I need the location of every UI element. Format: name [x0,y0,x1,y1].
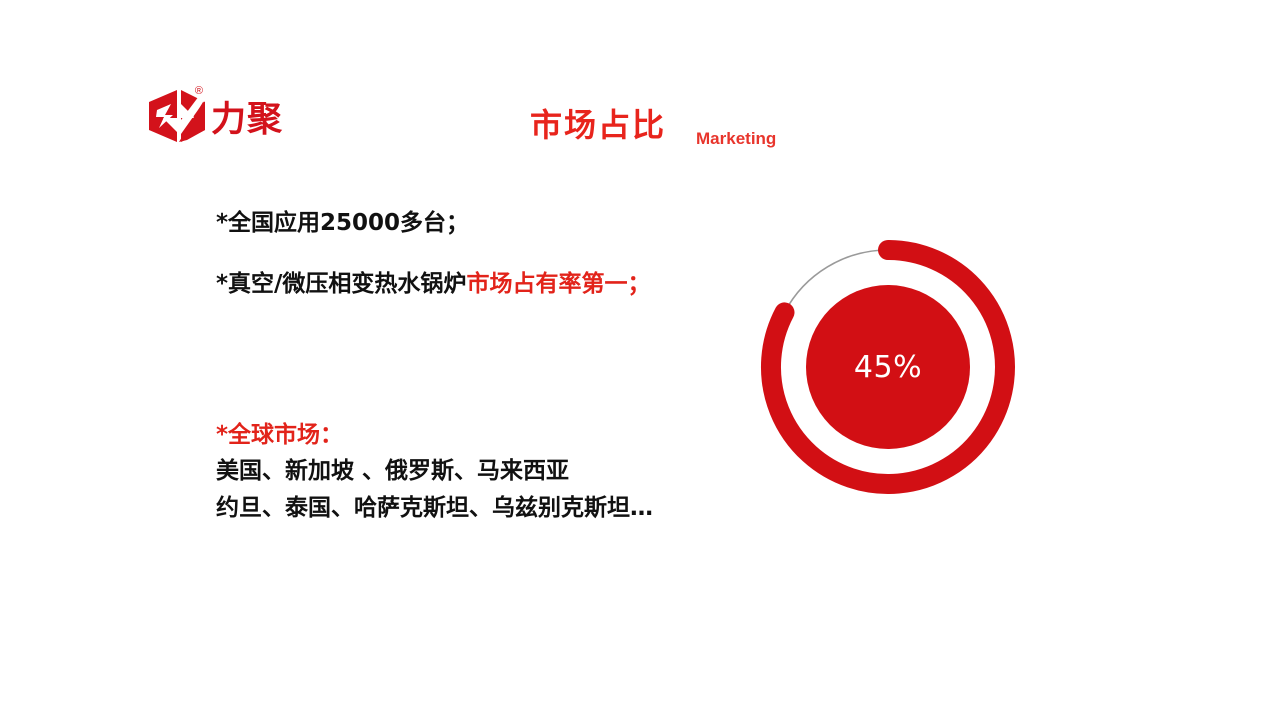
global-market-heading: *全球市场： [216,418,776,453]
lightning-mark-icon: ® [147,88,209,144]
page-title-cn: 市场占比 [530,108,666,143]
bullet-market-share-text: 真空/微压相变热水锅炉 [228,271,466,297]
donut-inner-disc [806,285,970,449]
bullet-list-top: *全国应用25000多台； *真空/微压相变热水锅炉市场占有率第一； [216,207,696,302]
bullet-market-share: *真空/微压相变热水锅炉市场占有率第一； [216,268,696,301]
company-logo: ® 力聚 [147,86,283,144]
global-market-block: *全球市场： 美国、新加坡 、俄罗斯、马来西亚 约旦、泰国、哈萨克斯坦、乌兹别克… [216,418,776,527]
slide-canvas: ® 力聚 市场占比 Marketing *全国应用25000多台； *真空/微压… [0,0,1280,720]
bullet-domestic: *全国应用25000多台； [216,207,696,240]
page-title: 市场占比 Marketing [530,108,776,143]
global-market-line-1: 美国、新加坡 、俄罗斯、马来西亚 [216,453,776,490]
logo-wordmark: 力聚 [211,103,283,138]
bullet-market-share-highlight: 市场占有率第一； [466,271,650,297]
bullet-domestic-prefix: * [216,210,228,236]
market-share-donut-chart: 45% [755,234,1021,500]
bullet-market-share-prefix: * [216,271,228,297]
registered-trademark-icon: ® [195,86,203,97]
global-market-line-2: 约旦、泰国、哈萨克斯坦、乌兹别克斯坦… [216,490,776,527]
bullet-domestic-text: 全国应用25000多台； [228,210,469,236]
page-title-en: Marketing [696,129,776,149]
